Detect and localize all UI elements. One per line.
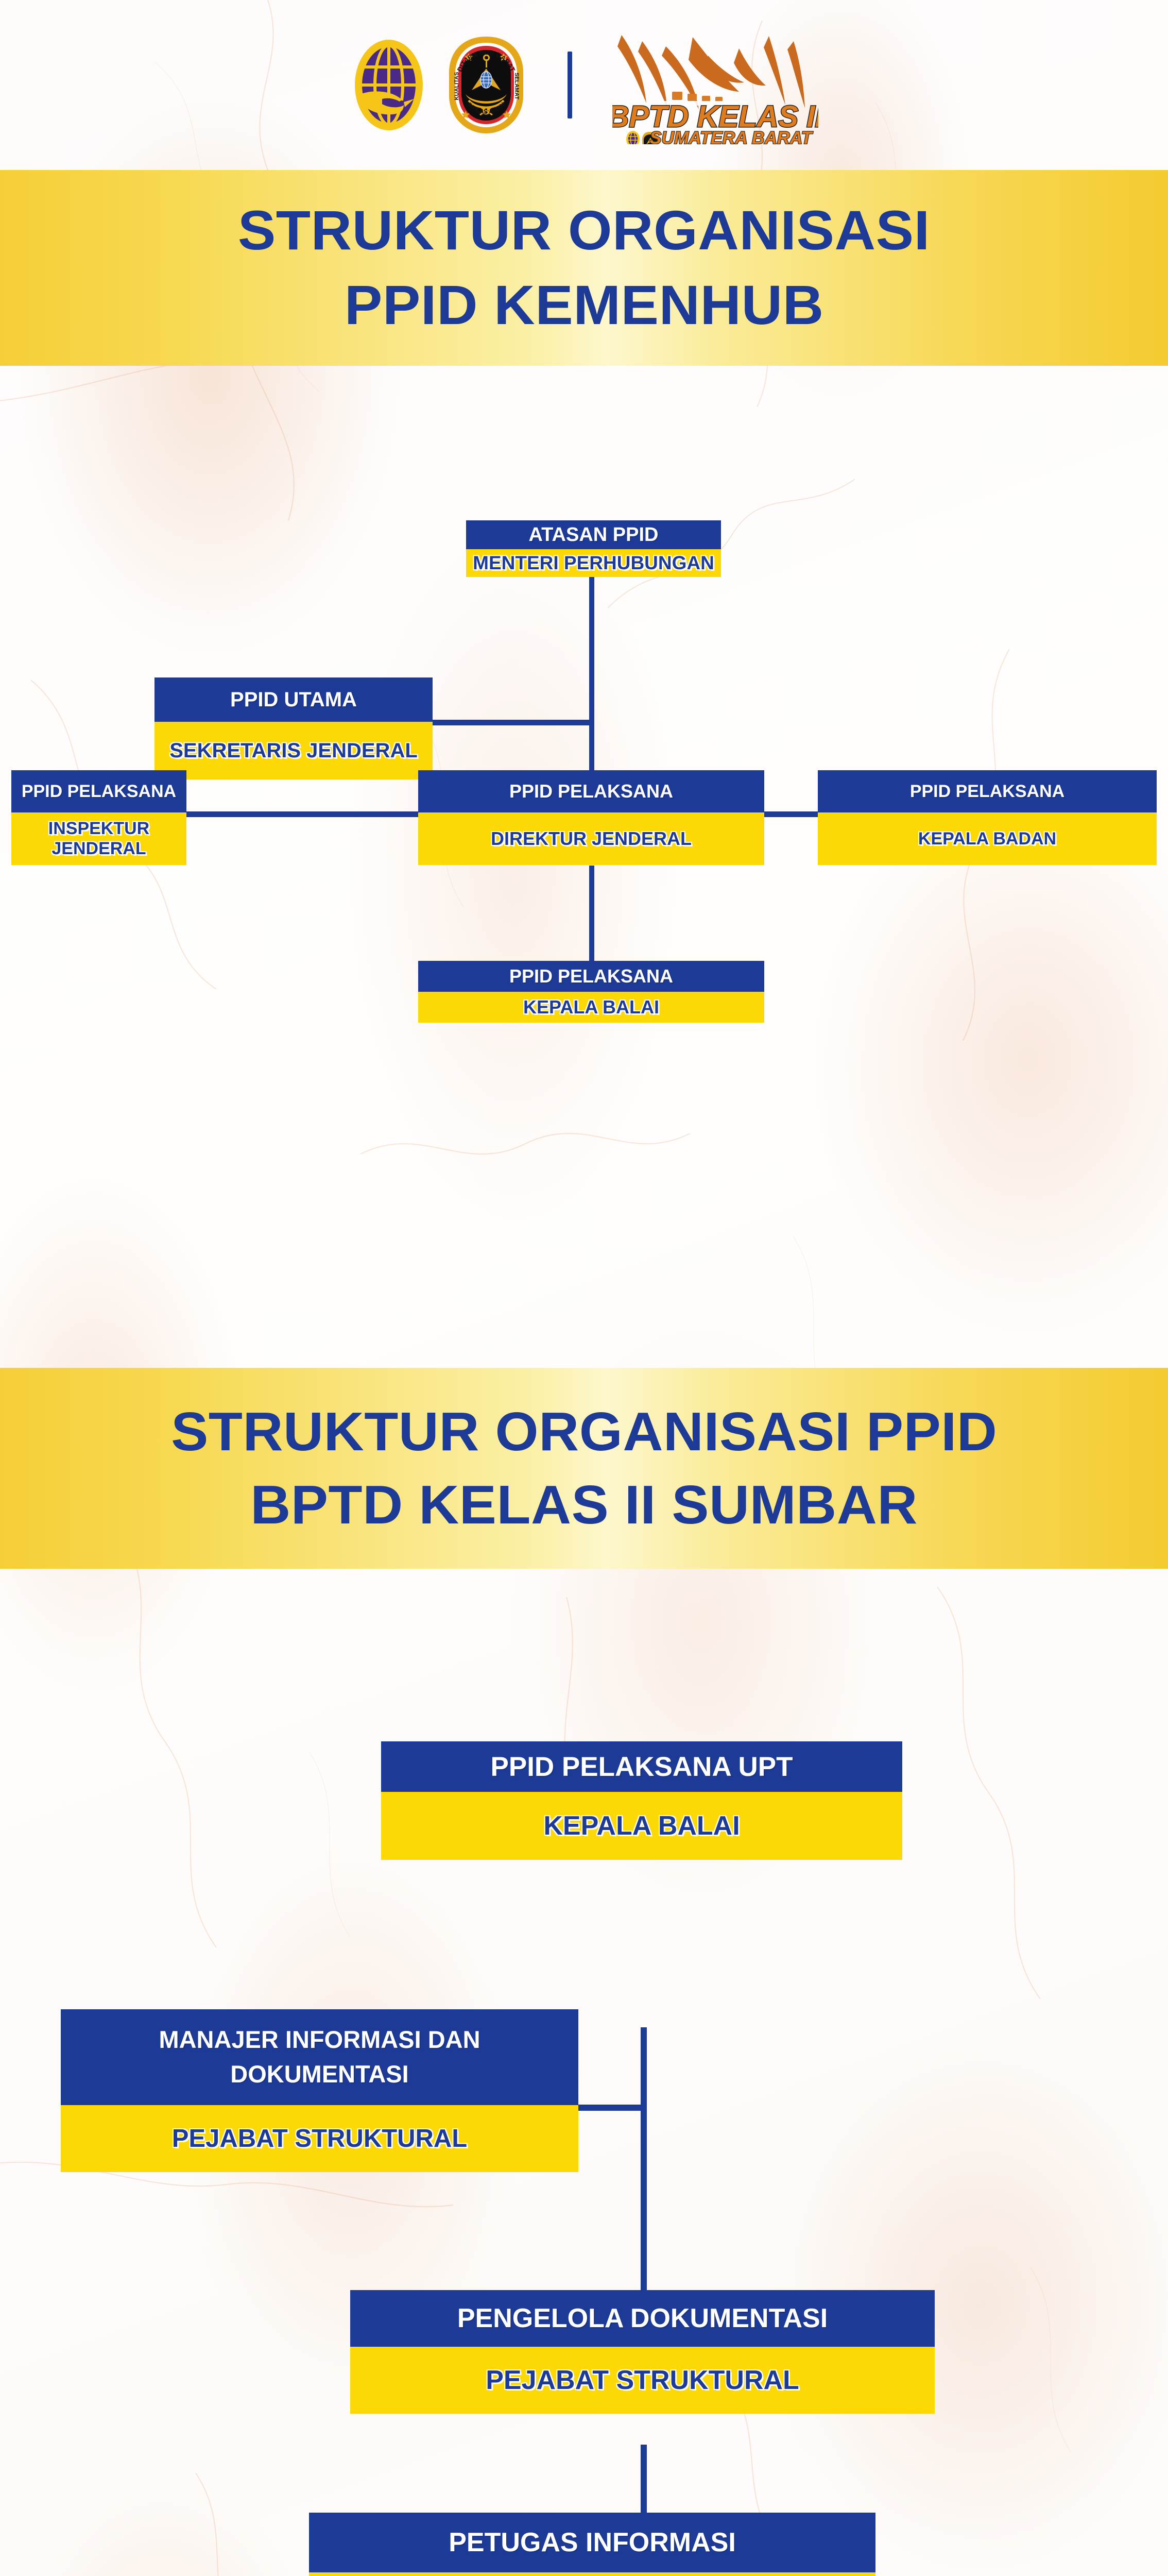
- banner-ppid-kemenhub: STRUKTUR ORGANISASI PPID KEMENHUB: [0, 170, 1168, 366]
- svg-text:SUMATERA BARAT: SUMATERA BARAT: [649, 128, 813, 144]
- node-atasan-ppid[interactable]: ATASAN PPID MENTERI PERHUBUNGAN: [466, 520, 721, 577]
- node-title: PPID PELAKSANA UPT: [381, 1741, 902, 1792]
- logo-group: DITJEN HUB DARAT IKHLAS AMAN KUALITAS SE…: [350, 26, 818, 144]
- node-subtitle: DIREKTUR JENDERAL: [418, 812, 764, 865]
- node-subtitle: STAFF: [309, 2572, 875, 2576]
- connector-trunk-bottom: [589, 866, 594, 963]
- node-ppid-utama[interactable]: PPID UTAMA SEKRETARIS JENDERAL: [154, 677, 433, 779]
- banner1-line2: PPID KEMENHUB: [345, 268, 824, 343]
- node-petugas-informasi[interactable]: PETUGAS INFORMASI STAFF: [309, 2513, 875, 2576]
- banner1-line1: STRUKTUR ORGANISASI: [238, 193, 930, 268]
- connector-upt-down: [641, 2027, 647, 2285]
- node-ppid-pelaksana-direktur[interactable]: PPID PELAKSANA DIREKTUR JENDERAL: [418, 770, 764, 865]
- node-ppid-pelaksana-upt[interactable]: PPID PELAKSANA UPT KEPALA BALAI: [381, 1741, 902, 1860]
- org-chart-kemenhub: ATASAN PPID MENTERI PERHUBUNGAN PPID UTA…: [0, 366, 1168, 1368]
- header-logo-row: DITJEN HUB DARAT IKHLAS AMAN KUALITAS SE…: [0, 0, 1168, 170]
- logo-divider: [568, 52, 572, 118]
- node-title: ATASAN PPID: [466, 520, 721, 549]
- node-ppid-pelaksana-balai[interactable]: PPID PELAKSANA KEPALA BALAI: [418, 961, 764, 1023]
- connector-trunk-mid: [589, 723, 594, 773]
- connector-to-petugas: [641, 2445, 647, 2513]
- node-subtitle: PEJABAT STRUKTURAL: [350, 2347, 935, 2414]
- node-manajer-informasi-dokumentasi[interactable]: MANAJER INFORMASI DAN DOKUMENTASI PEJABA…: [61, 2009, 578, 2172]
- node-title: PPID PELAKSANA: [11, 770, 186, 812]
- node-title: PETUGAS INFORMASI: [309, 2513, 875, 2572]
- node-title: PPID PELAKSANA: [818, 770, 1157, 812]
- node-ppid-pelaksana-inspektur[interactable]: PPID PELAKSANA INSPEKTUR JENDERAL: [11, 770, 186, 865]
- banner2-line2: BPTD KELAS II SUMBAR: [250, 1468, 918, 1541]
- connector-trunk-top: [589, 577, 594, 723]
- node-subtitle: KEPALA BALAI: [418, 992, 764, 1023]
- connector-to-manajer: [578, 2105, 647, 2111]
- banner2-line1: STRUKTUR ORGANISASI PPID: [171, 1395, 997, 1468]
- banner-ppid-bptd-sumbar: STRUKTUR ORGANISASI PPID BPTD KELAS II S…: [0, 1368, 1168, 1569]
- connector-to-pengelola: [641, 2254, 647, 2290]
- node-ppid-pelaksana-badan[interactable]: PPID PELAKSANA KEPALA BADAN: [818, 770, 1157, 865]
- node-title: MANAJER INFORMASI DAN DOKUMENTASI: [61, 2009, 578, 2105]
- node-subtitle: SEKRETARIS JENDERAL: [154, 722, 433, 779]
- node-subtitle: INSPEKTUR JENDERAL: [11, 812, 186, 865]
- node-subtitle: MENTERI PERHUBUNGAN: [466, 549, 721, 577]
- node-subtitle: KEPALA BADAN: [818, 812, 1157, 865]
- node-title: PPID PELAKSANA: [418, 961, 764, 992]
- org-chart-bptd-sumbar: PPID PELAKSANA UPT KEPALA BALAI MANAJER …: [0, 1569, 1168, 2576]
- node-subtitle: KEPALA BALAI: [381, 1792, 902, 1860]
- ditjen-hubdat-logo: DITJEN HUB DARAT IKHLAS AMAN KUALITAS SE…: [445, 35, 527, 135]
- bptd-kelas-2-sumbar-logo: BPTD KELAS II SUMATERA BARAT: [612, 26, 818, 144]
- svg-text:KUALITAS: KUALITAS: [454, 72, 460, 100]
- svg-text:SELAMAT: SELAMAT: [513, 73, 520, 100]
- node-pengelola-dokumentasi[interactable]: PENGELOLA DOKUMENTASI PEJABAT STRUKTURAL: [350, 2290, 935, 2414]
- node-title: PPID UTAMA: [154, 677, 433, 722]
- node-title: PPID PELAKSANA: [418, 770, 764, 812]
- node-title: PENGELOLA DOKUMENTASI: [350, 2290, 935, 2347]
- node-subtitle: PEJABAT STRUKTURAL: [61, 2105, 578, 2172]
- kemenhub-logo: [350, 36, 427, 134]
